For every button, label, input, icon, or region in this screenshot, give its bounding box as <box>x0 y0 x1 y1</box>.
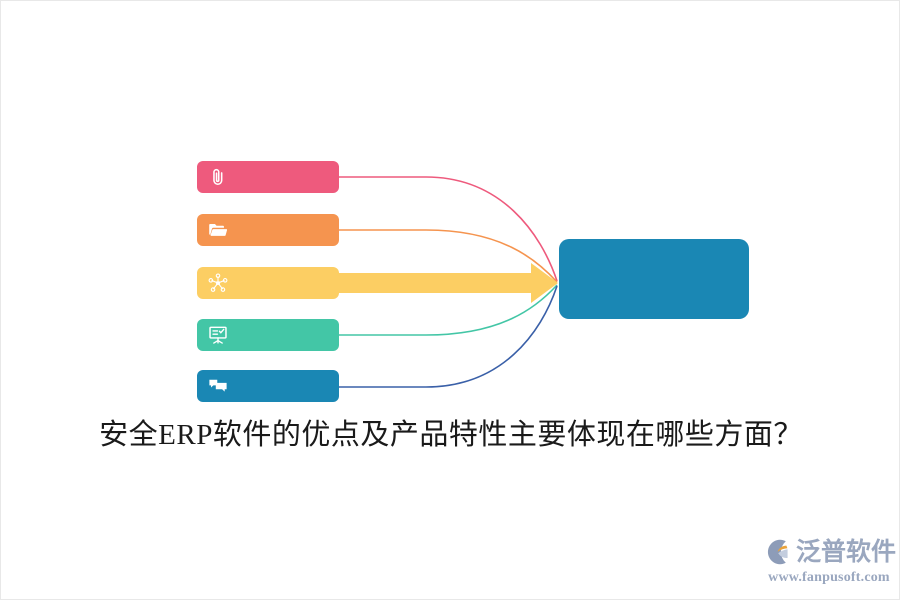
connector-lines <box>1 1 900 421</box>
target-box[interactable] <box>559 239 749 319</box>
chat-bubbles-icon <box>207 375 229 397</box>
feature-bar-4[interactable] <box>197 370 339 402</box>
feature-bar-2[interactable] <box>197 267 339 299</box>
logo-row: 泛普软件 <box>763 535 895 569</box>
converging-arrow-diagram <box>1 1 900 421</box>
fanpu-logo-icon <box>763 537 793 567</box>
presentation-checklist-icon <box>207 324 229 346</box>
connector-line-4 <box>339 286 557 387</box>
paperclip-icon <box>207 166 229 188</box>
screenshot-canvas: 安全ERP软件的优点及产品特性主要体现在哪些方面？ 泛普软件 www.fanpu… <box>0 0 900 600</box>
network-hub-icon <box>207 272 229 294</box>
open-folder-icon <box>207 219 229 241</box>
logo-wordmark: 泛普软件 <box>796 540 896 565</box>
watermark-logo: 泛普软件 www.fanpusoft.com <box>763 535 895 591</box>
feature-bar-3[interactable] <box>197 319 339 351</box>
feature-bar-0[interactable] <box>197 161 339 193</box>
page-title: 安全ERP软件的优点及产品特性主要体现在哪些方面？ <box>1 411 900 453</box>
feature-bar-1[interactable] <box>197 214 339 246</box>
connector-line-0 <box>339 177 557 281</box>
logo-url: www.fanpusoft.com <box>763 570 895 586</box>
connector-arrow-2 <box>339 263 558 303</box>
